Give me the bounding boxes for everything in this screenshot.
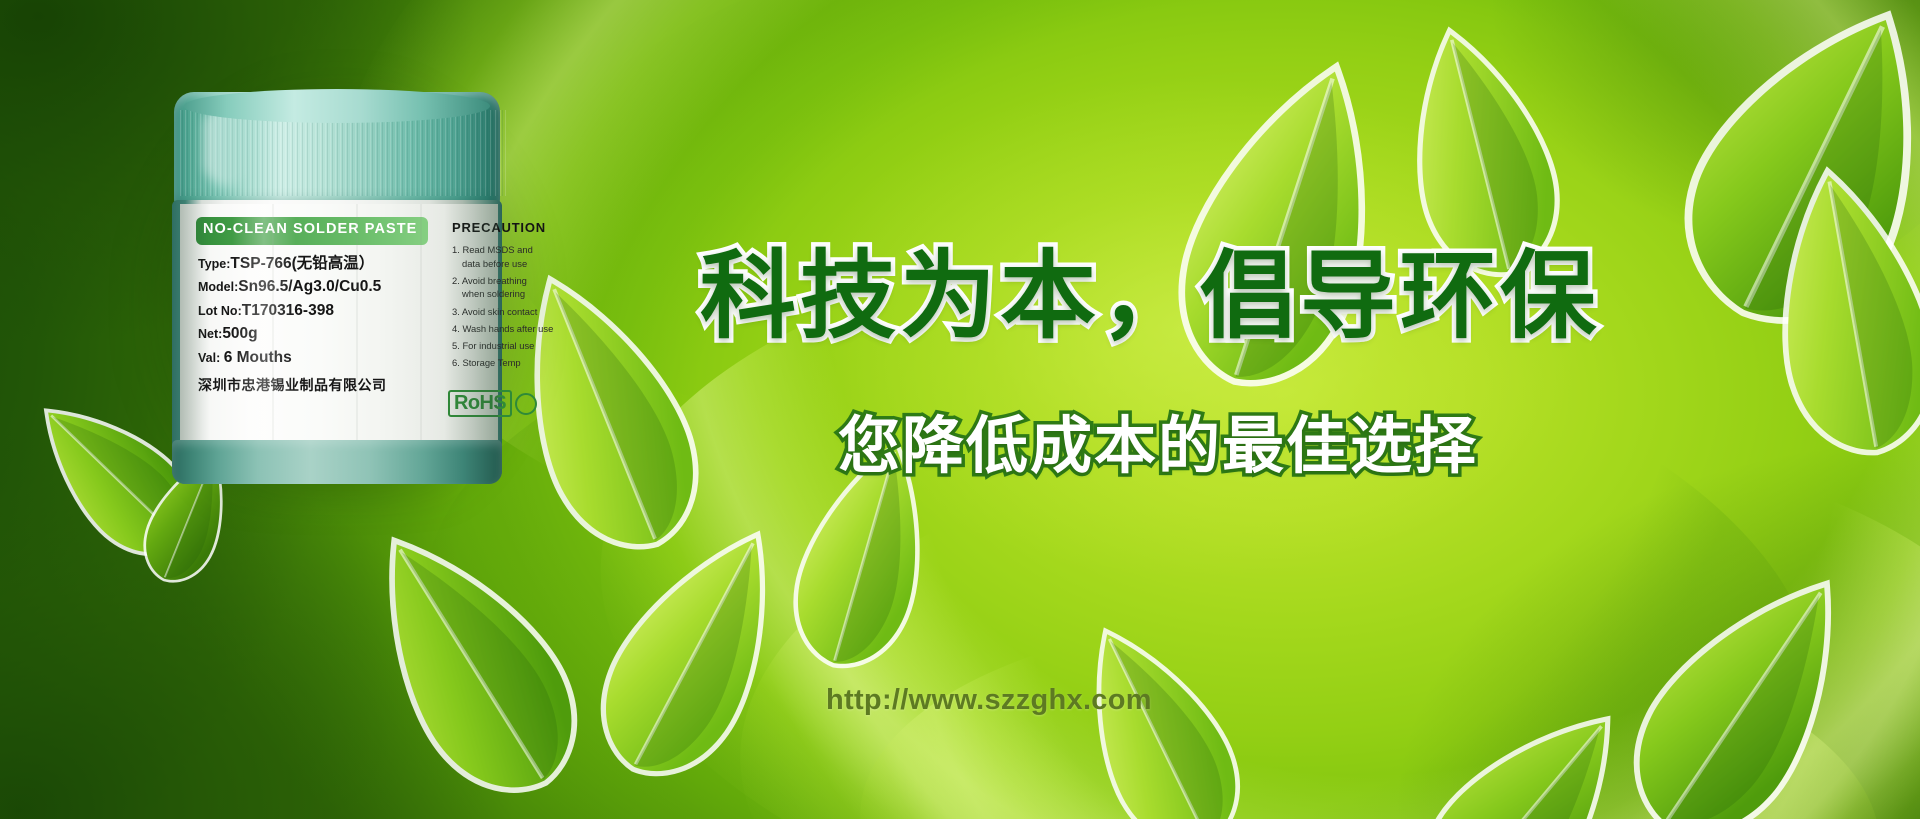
website-url-text[interactable]: http://www.szzghx.com [826, 684, 1152, 717]
page-subtitle: 您降低成本的最佳选择 [838, 415, 1478, 477]
hero-text-block: 科技为本，倡导环保 您降低成本的最佳选择 http://www.szzghx.c… [0, 0, 1920, 819]
page-title: 科技为本，倡导环保 [700, 248, 1600, 344]
promo-banner: NO-CLEAN SOLDER PASTE Type:TSP-766(无铅高温）… [0, 0, 1920, 819]
